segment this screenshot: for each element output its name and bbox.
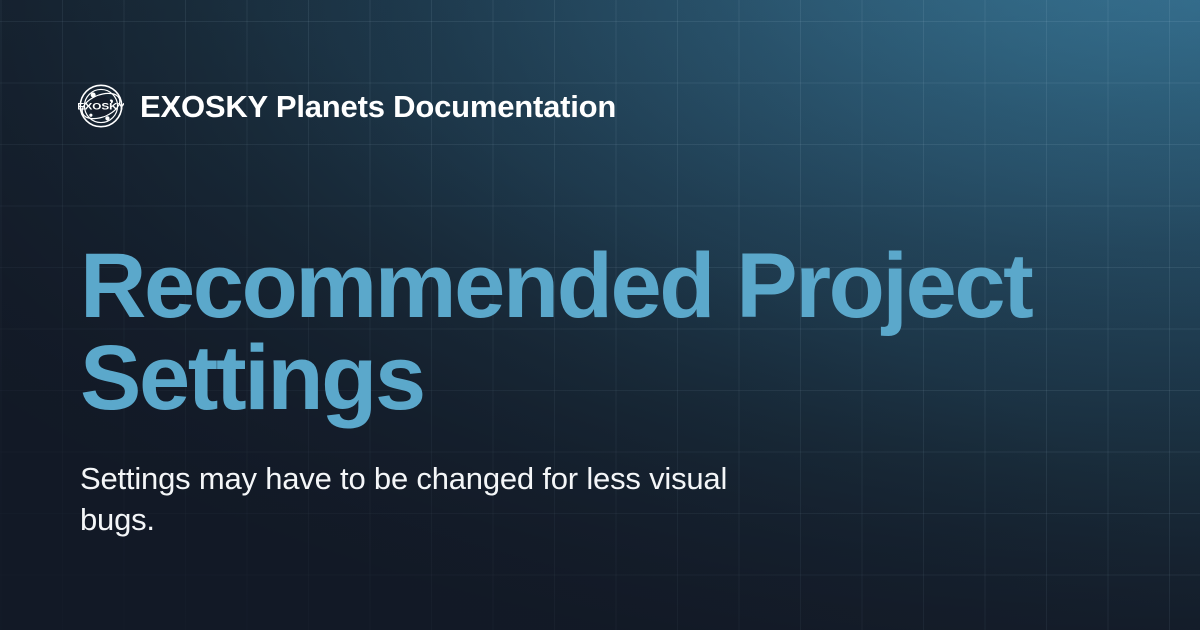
page-title: Recommended Project Settings (80, 240, 1110, 424)
hero-section: Recommended Project Settings Settings ma… (80, 240, 1120, 540)
exosky-planet-logo-icon: EXOSKY (78, 83, 124, 129)
site-title: EXOSKY Planets Documentation (140, 91, 616, 122)
social-preview-card: EXOSKY EXOSKY Planets Documentation Reco… (0, 0, 1200, 630)
card-content: EXOSKY EXOSKY Planets Documentation Reco… (0, 0, 1200, 630)
page-subtitle: Settings may have to be changed for less… (80, 424, 810, 540)
brand-header: EXOSKY EXOSKY Planets Documentation (78, 80, 616, 132)
logo-wordmark: EXOSKY (78, 103, 124, 112)
